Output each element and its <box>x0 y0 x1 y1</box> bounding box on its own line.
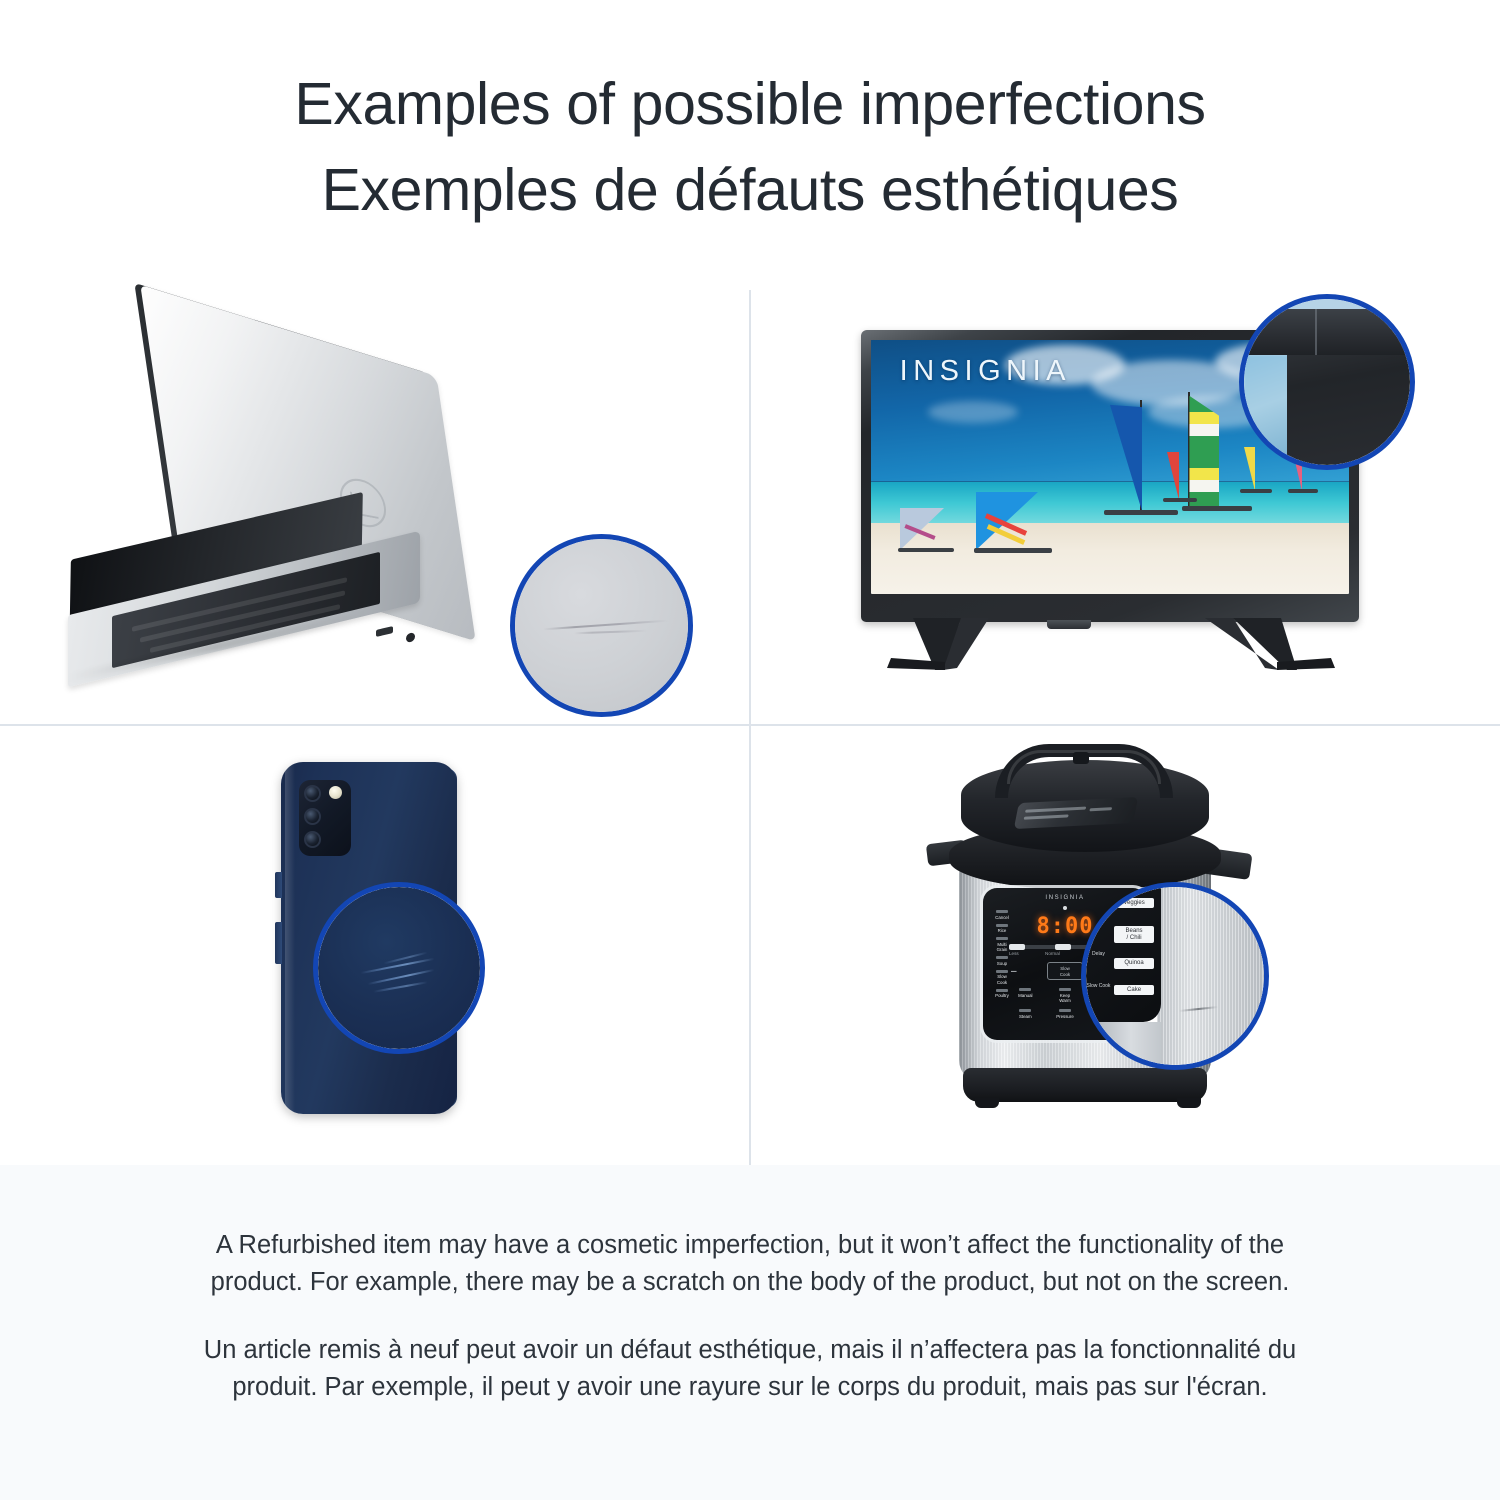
slider-label-normal: Normal <box>1045 951 1060 956</box>
phone-camera-module <box>299 780 351 856</box>
tv-illustration: INSIGNIA <box>851 302 1391 672</box>
magnified-brush-texture <box>1157 887 1264 1065</box>
button-label: Rice <box>998 928 1007 933</box>
page-header: Examples of possible imperfections Exemp… <box>0 0 1500 272</box>
cooker-button-pressure[interactable]: Pressure <box>1047 1009 1084 1019</box>
magnifier-laptop-content <box>515 539 688 712</box>
cooker-base <box>963 1068 1207 1102</box>
tv-stand <box>861 618 1361 678</box>
magnified-button-cake[interactable]: Cake <box>1114 985 1153 996</box>
camera-lens-icon <box>304 831 321 848</box>
magnifier-cooker-scratch: Veggies Beans/ Chili Quinoa Cake Delay S… <box>1081 882 1269 1070</box>
scratch-mark <box>574 629 647 633</box>
button-indicator-bar <box>996 970 1008 973</box>
button-label: Steam <box>1019 1014 1032 1019</box>
product-examples-grid: INSIGNIA <box>0 272 1500 1165</box>
camera-flash-icon <box>329 786 342 799</box>
cooker-illustration: INSIGNIA 8:00 Less Normal More SlowCook … <box>921 738 1321 1148</box>
phone-power-button <box>275 922 282 964</box>
button-label: Soup <box>997 961 1007 966</box>
button-indicator-bar <box>1059 1009 1071 1012</box>
page-footer: A Refurbished item may have a cosmetic i… <box>0 1165 1500 1500</box>
magnified-button-beans[interactable]: Beans/ Chili <box>1114 926 1153 943</box>
phone-highlight <box>285 762 295 1114</box>
button-label: KeepWarm <box>1059 993 1071 1004</box>
button-label: MultiGrain <box>997 942 1008 953</box>
cooker-button-slow-cook[interactable]: SlowCook <box>989 970 1015 986</box>
panel-television: INSIGNIA <box>751 272 1500 724</box>
cooker-foot <box>975 1098 999 1108</box>
cooker-led-display: 8:00 <box>1037 914 1094 939</box>
footer-paragraph-en: A Refurbished item may have a cosmetic i… <box>170 1227 1330 1302</box>
page-title-fr: Exemples de défauts esthétiques <box>322 148 1179 234</box>
scratch-mark <box>543 619 667 630</box>
tv-brand-text: INSIGNIA <box>900 355 1071 388</box>
magnifier-phone-content <box>318 887 480 1049</box>
cooker-brand-label: INSIGNIA <box>1045 895 1084 901</box>
button-label: Manual <box>1018 993 1032 998</box>
phone-volume-button <box>275 872 282 898</box>
camera-lens-icon <box>304 808 321 825</box>
cooker-foot <box>1177 1098 1201 1108</box>
magnified-button-delay[interactable]: Delay <box>1086 951 1111 957</box>
button-indicator-bar <box>1019 1009 1031 1012</box>
magnifier-laptop-scratch <box>510 534 693 717</box>
cooker-button-cancel[interactable]: Cancel <box>989 910 1015 920</box>
cooker-button-soup[interactable]: Soup <box>989 956 1015 966</box>
scratch-mark <box>373 981 428 993</box>
infographic-page: Examples of possible imperfections Exemp… <box>0 0 1500 1500</box>
cooker-indicator-light <box>1063 906 1067 910</box>
laptop-audio-port <box>406 632 415 643</box>
magnifier-tv-bezel <box>1239 294 1415 470</box>
button-indicator-bar <box>996 924 1008 927</box>
cooker-button-keep-warm[interactable]: KeepWarm <box>1047 988 1084 1004</box>
cooker-button-rice[interactable]: Rice <box>989 924 1015 934</box>
magnifier-phone-scratch <box>313 882 485 1054</box>
cooker-button-steam[interactable]: Steam <box>1007 1009 1044 1019</box>
magnifier-cooker-content: Veggies Beans/ Chili Quinoa Cake Delay S… <box>1086 887 1264 1065</box>
cooker-button-multi-grain[interactable]: MultiGrain <box>989 937 1015 953</box>
tv-scene-cloud <box>928 401 1018 423</box>
panel-laptop <box>0 272 749 724</box>
magnified-steel-lower <box>1086 1022 1161 1065</box>
magnified-button-veggies[interactable]: Veggies <box>1114 898 1153 909</box>
button-indicator-bar <box>996 937 1008 940</box>
cooker-slow-cook-button[interactable]: SlowCook <box>1047 962 1083 980</box>
page-title-en: Examples of possible imperfections <box>294 62 1205 148</box>
magnifier-tv-content <box>1244 299 1410 465</box>
magnified-button-quinoa[interactable]: Quinoa <box>1114 958 1153 969</box>
button-indicator-bar <box>1059 988 1071 991</box>
camera-lens-icon <box>304 785 321 802</box>
footer-paragraph-fr: Un article remis à neuf peut avoir un dé… <box>170 1332 1330 1407</box>
magnified-bezel-seam <box>1315 309 1317 355</box>
button-indicator-bar <box>996 956 1008 959</box>
button-label: Cancel <box>995 915 1009 920</box>
phone-illustration <box>225 746 525 1146</box>
laptop-usb-port <box>376 626 393 637</box>
button-label: SlowCook <box>997 974 1007 985</box>
panel-smartphone <box>0 726 749 1165</box>
magnified-bezel-top <box>1244 309 1410 355</box>
button-indicator-bar <box>1019 988 1031 991</box>
cooker-pressure-valve[interactable] <box>1073 752 1089 764</box>
laptop-illustration <box>40 330 660 690</box>
button-indicator-bar <box>996 910 1008 913</box>
panel-pressure-cooker: INSIGNIA 8:00 Less Normal More SlowCook … <box>751 726 1500 1165</box>
cooker-button-manual[interactable]: Manual <box>1007 988 1044 1004</box>
button-label: Pressure <box>1056 1014 1074 1019</box>
magnified-button-slow-cook[interactable]: Slow Cook <box>1086 983 1111 989</box>
